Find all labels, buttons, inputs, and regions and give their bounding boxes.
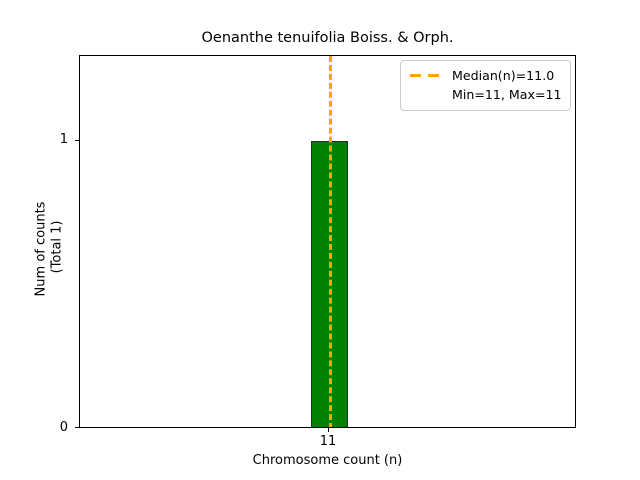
y-axis-label: Num of counts (Total 1) xyxy=(34,63,66,436)
chart-title: Oenanthe tenuifolia Boiss. & Orph. xyxy=(79,30,576,46)
legend-label-minmax: Min=11, Max=11 xyxy=(452,85,562,104)
legend-entry-minmax: Min=11, Max=11 xyxy=(409,85,562,104)
median-line xyxy=(329,56,332,428)
legend[interactable]: Median(n)=11.0 Min=11, Max=11 xyxy=(400,60,571,111)
xtick-label-11: 11 xyxy=(320,434,337,449)
xtick-mark-11 xyxy=(328,428,329,432)
legend-entry-median: Median(n)=11.0 xyxy=(409,66,562,85)
dashed-line-icon xyxy=(409,70,443,82)
x-axis-label: Chromosome count (n) xyxy=(79,453,576,468)
blank-swatch-icon xyxy=(409,89,443,101)
legend-label-median: Median(n)=11.0 xyxy=(452,66,554,85)
figure-canvas: Oenanthe tenuifolia Boiss. & Orph. 1 0 1… xyxy=(0,0,640,480)
